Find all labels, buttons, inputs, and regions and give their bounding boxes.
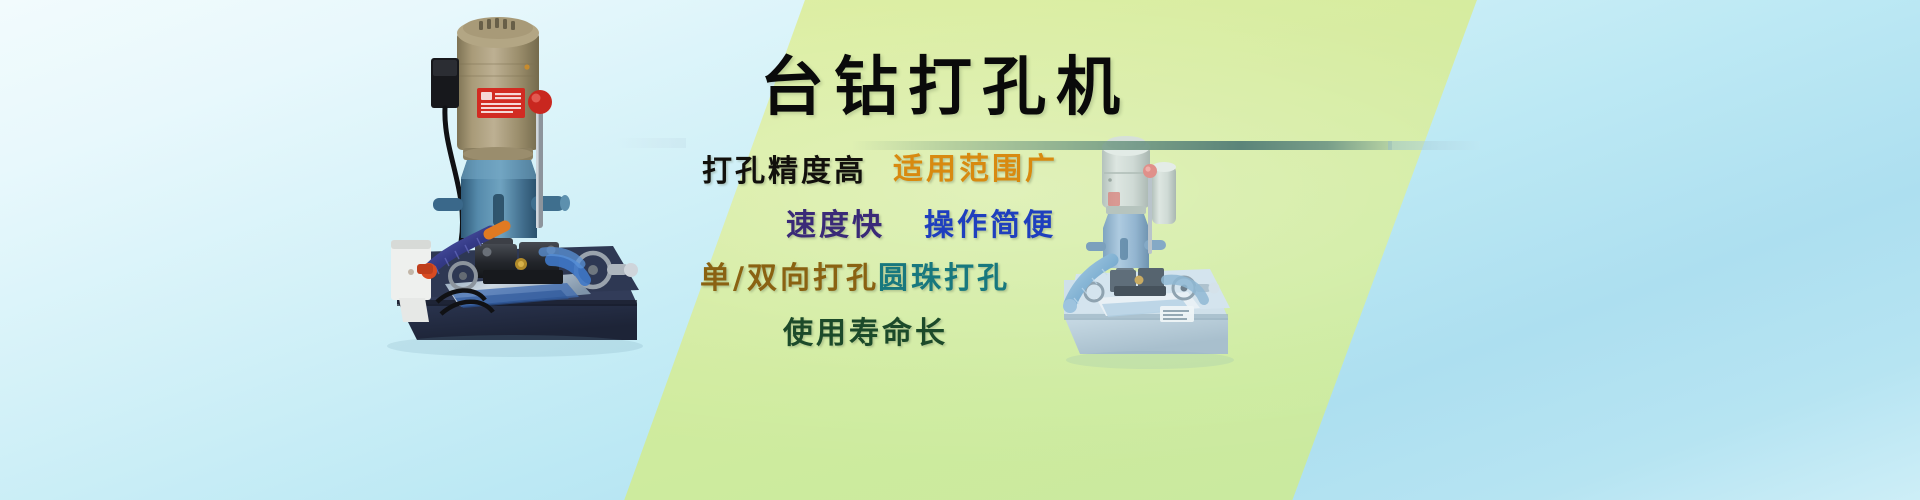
feature-wide-range: 适用范围广	[893, 144, 1058, 188]
feature-single-double-direction: 单/双向打孔	[700, 253, 879, 297]
feature-long-service-life: 使用寿命长	[783, 308, 948, 352]
divider-rule-left-stub	[616, 138, 686, 148]
bench-drill-machine-primary-image	[355, 2, 665, 377]
bench-drill-machine-secondary-image	[1052, 128, 1252, 400]
promotional-banner: 台钻打孔机 打孔精度高 适用范围广 速度快 操作简便 单/双向打孔 圆珠打孔 使…	[0, 0, 1920, 500]
feature-bead-drilling: 圆珠打孔	[878, 253, 1010, 297]
feature-easy-operate: 操作简便	[924, 200, 1056, 244]
feature-fast-speed: 速度快	[786, 200, 885, 244]
divider-rule-right-stub	[1388, 141, 1480, 150]
feature-precision: 打孔精度高	[702, 146, 867, 190]
page-title: 台钻打孔机	[760, 36, 1130, 128]
